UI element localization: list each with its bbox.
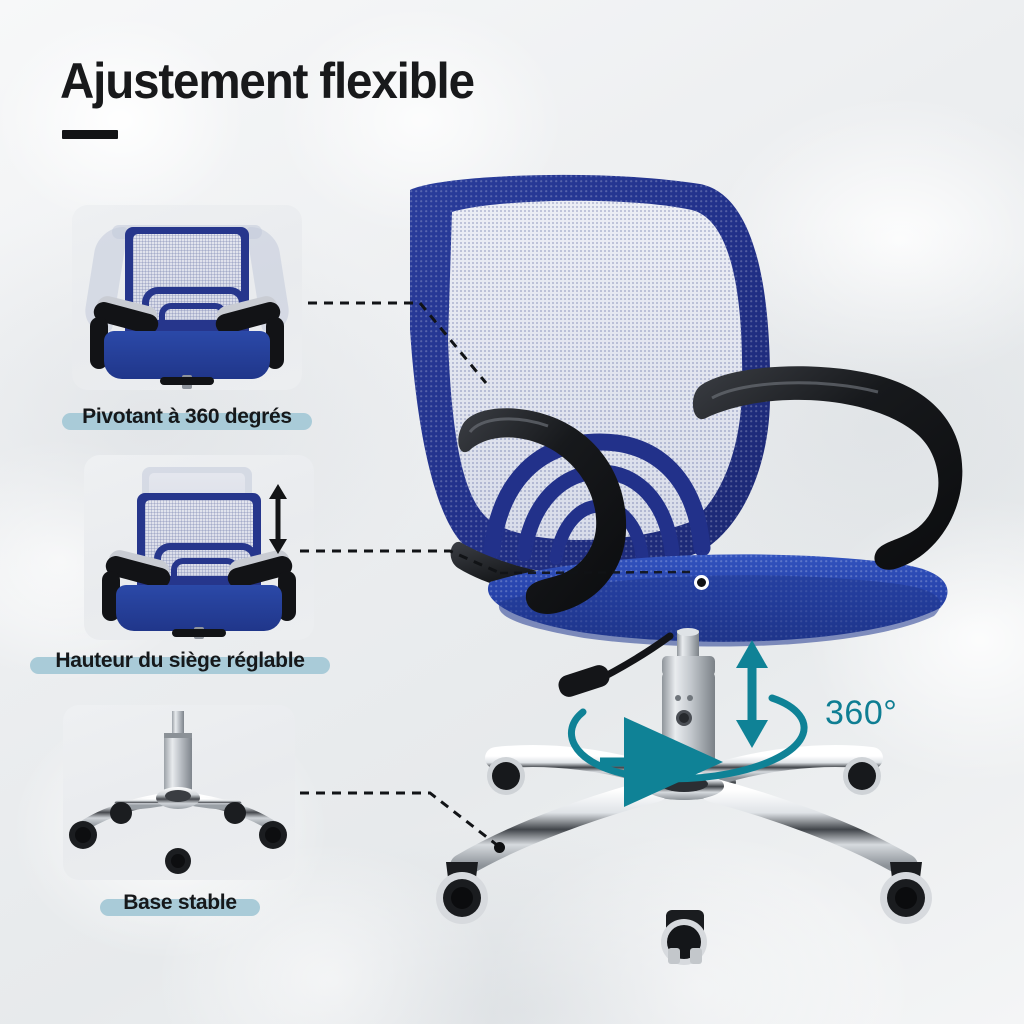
feature-label-swivel: Pivotant à 360 degrés	[62, 402, 312, 432]
rotation-degree-label: 360°	[825, 694, 897, 733]
hotspot-marker-base	[494, 842, 505, 853]
feature-label-text: Hauteur du siège réglable	[55, 649, 304, 673]
vertical-double-arrow-icon	[260, 483, 296, 555]
chair-front-view-height-thumbnail	[84, 455, 314, 640]
feature-card-stable-base	[63, 705, 295, 880]
title-underline-rule	[62, 130, 118, 139]
chrome-five-star-base-thumbnail	[63, 705, 295, 880]
feature-label-text: Pivotant à 360 degrés	[82, 405, 292, 429]
feature-card-swivel	[72, 205, 302, 390]
feature-label-text: Base stable	[123, 891, 236, 915]
main-chair-photo	[400, 150, 1000, 980]
feature-card-seat-height	[84, 455, 314, 640]
feature-label-seat-height: Hauteur du siège réglable	[30, 646, 330, 676]
feature-label-stable-base: Base stable	[100, 888, 260, 918]
hotspot-marker-seat	[694, 575, 709, 590]
infographic-canvas: Ajustement flexible	[0, 0, 1024, 1024]
page-title: Ajustement flexible	[60, 56, 474, 106]
chair-illustration	[400, 150, 1000, 980]
chair-front-view-thumbnail	[72, 205, 302, 390]
